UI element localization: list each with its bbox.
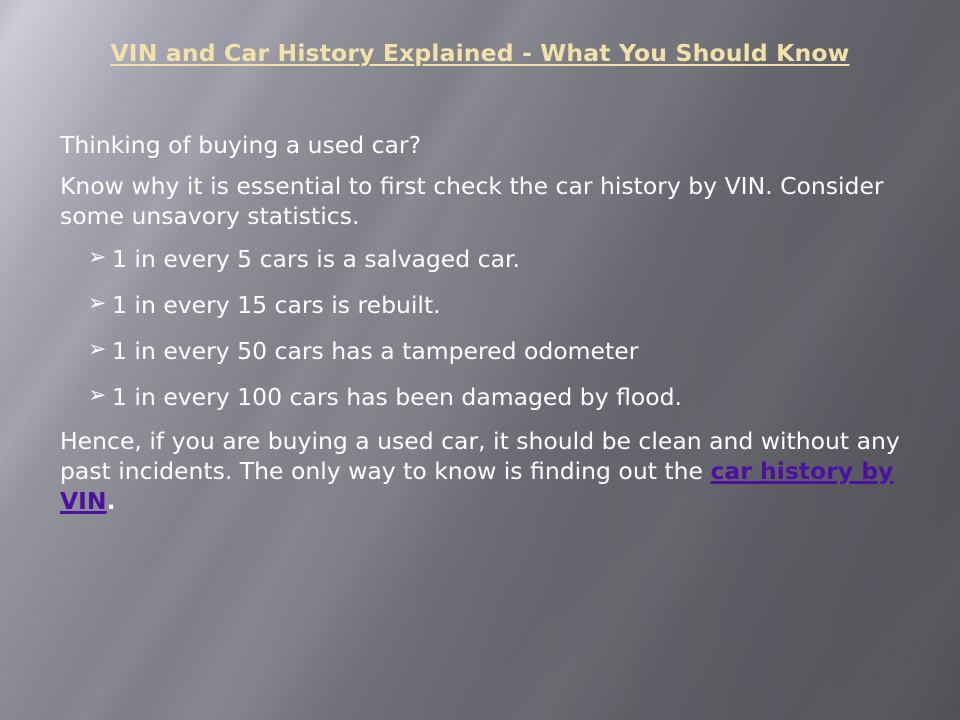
presentation-slide: VIN and Car History Explained - What You…: [0, 0, 960, 720]
slide-content: VIN and Car History Explained - What You…: [0, 0, 960, 720]
statistics-list: ➢ 1 in every 5 cars is a salvaged car. ➢…: [60, 244, 940, 412]
arrowhead-bullet-icon: ➢: [88, 381, 112, 411]
slide-body: Thinking of buying a used car? Know why …: [60, 130, 940, 520]
paragraph-reason: Know why it is essential to first check …: [60, 171, 940, 231]
list-item: ➢ 1 in every 50 cars has a tampered odom…: [60, 336, 940, 366]
arrowhead-bullet-icon: ➢: [88, 289, 112, 319]
paragraph-intro: Thinking of buying a used car?: [60, 130, 940, 160]
list-item-label: 1 in every 100 cars has been damaged by …: [112, 383, 682, 411]
arrowhead-bullet-icon: ➢: [88, 335, 112, 365]
list-item-label: 1 in every 15 cars is rebuilt.: [112, 291, 441, 319]
list-item: ➢ 1 in every 5 cars is a salvaged car.: [60, 244, 940, 274]
list-item-label: 1 in every 5 cars is a salvaged car.: [112, 245, 520, 273]
conclusion-text-trail: .: [107, 487, 116, 515]
paragraph-conclusion: Hence, if you are buying a used car, it …: [60, 426, 940, 516]
arrowhead-bullet-icon: ➢: [88, 243, 112, 273]
slide-title: VIN and Car History Explained - What You…: [56, 38, 904, 68]
list-item: ➢ 1 in every 15 cars is rebuilt.: [60, 290, 940, 320]
list-item: ➢ 1 in every 100 cars has been damaged b…: [60, 382, 940, 412]
list-item-label: 1 in every 50 cars has a tampered odomet…: [112, 337, 638, 365]
